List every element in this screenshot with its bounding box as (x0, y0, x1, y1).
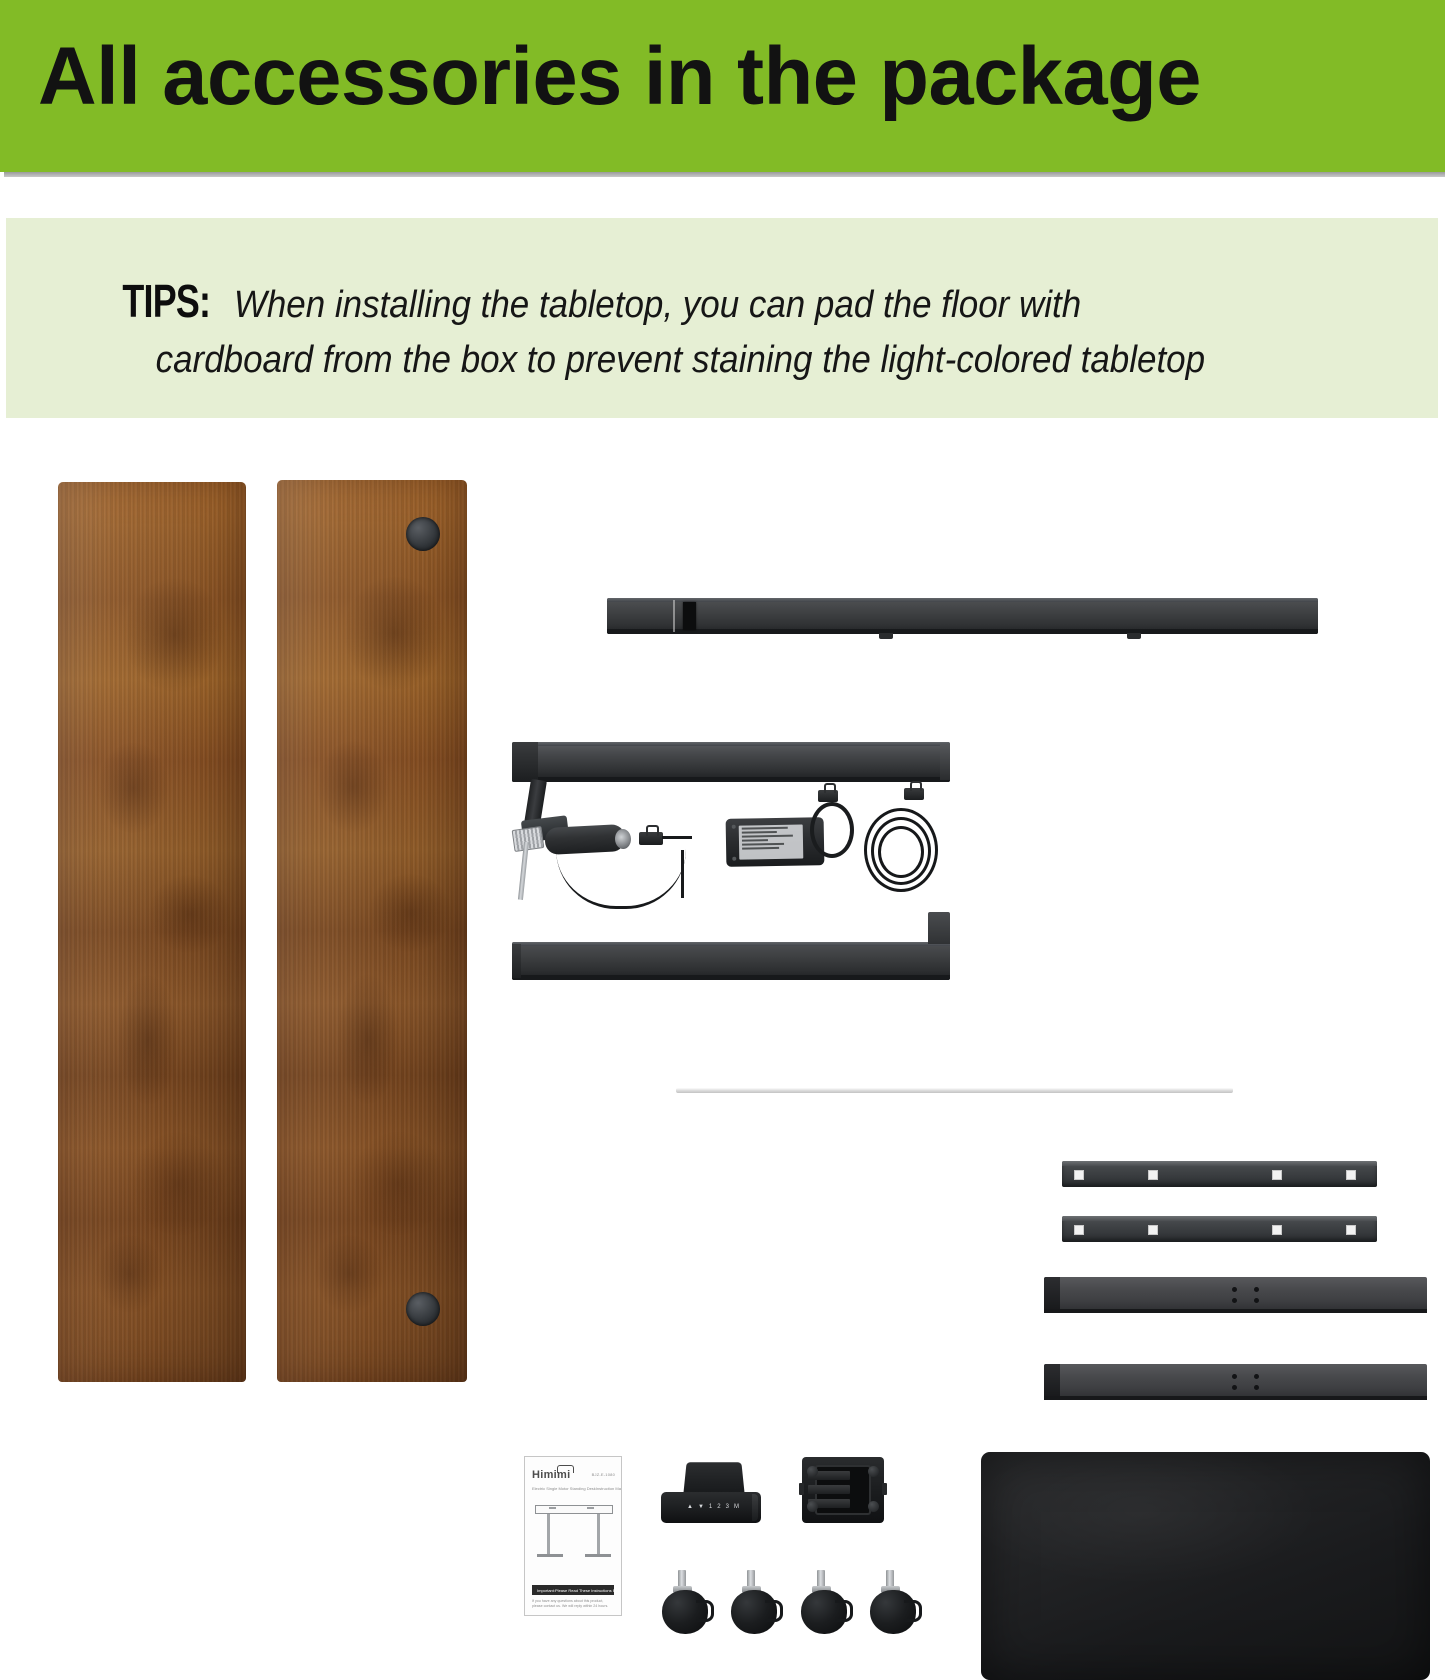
foot-bar-1-bottom-edge (1044, 1309, 1427, 1313)
caster-4 (868, 1570, 922, 1636)
crossbeam-adjust-slot (683, 602, 696, 630)
keypad-key-preset-3[interactable]: 3 (726, 1504, 729, 1510)
mounting-plate-boss-br (868, 1501, 879, 1512)
mounting-plate-boss-tr (868, 1466, 879, 1477)
manual-desk-grommet-1 (549, 1507, 556, 1509)
caster-3-brake-lever (835, 1600, 853, 1622)
mounting-plate-boss-bl (807, 1501, 818, 1512)
caster-3 (799, 1570, 853, 1636)
caster-2 (729, 1570, 783, 1636)
cable-coil-ring-3 (878, 826, 924, 878)
mounting-rail-2-hole-2 (1148, 1225, 1158, 1235)
crossbeam-seam (673, 600, 675, 632)
keypad-key-up[interactable]: ▲ (687, 1504, 693, 1510)
adapter-screw-tl (732, 825, 736, 829)
manual-desk-foot-left (537, 1554, 563, 1557)
foot-bar-2-hole-2 (1254, 1374, 1259, 1379)
mounting-rail-1 (1062, 1161, 1377, 1187)
manual-brand: Himimi (532, 1469, 570, 1481)
mounting-rail-2-hole-1 (1074, 1225, 1084, 1235)
power-adapter-cable-loop (810, 802, 854, 858)
l-beam-upright-tab (928, 912, 950, 944)
crossbeam-top-edge (607, 598, 1318, 602)
mounting-rail-1-lip (1062, 1161, 1377, 1166)
control-keypad-riser (683, 1462, 745, 1495)
cable-grommet-bottom-icon (406, 1292, 440, 1326)
l-beam-bottom-edge (512, 975, 950, 980)
foot-bar-1-end-cap (1044, 1277, 1060, 1313)
motor-beam-face (512, 742, 950, 782)
power-adapter-label (739, 825, 804, 860)
crossbeam-bottom-edge (607, 629, 1318, 634)
tabletop-panel-right (277, 480, 467, 1382)
caster-4-brake-lever (904, 1600, 922, 1622)
foot-bar-1-hole-4 (1254, 1298, 1259, 1303)
accessories-layout: Himimi BJZ-E-1080 Electric Single Motor … (0, 430, 1445, 1383)
manual-footnote: If you have any questions about this pro… (532, 1599, 614, 1609)
motor-cable (556, 844, 686, 909)
motor-beam-right-cap (940, 744, 950, 780)
tips-content: TIPS:When installing the tabletop, you c… (110, 274, 1370, 388)
cable-grommet-top-icon (406, 517, 440, 551)
power-cable-plug-pin (910, 781, 922, 791)
motor-beam-left-cap (512, 742, 538, 782)
motor-support-beam (512, 742, 950, 782)
keypad-key-preset-2[interactable]: 2 (717, 1504, 720, 1510)
mounting-rail-1-hole-4 (1346, 1170, 1356, 1180)
manual-desk-top (535, 1505, 613, 1514)
foot-bar-2-hole-4 (1254, 1385, 1259, 1390)
control-keypad-keys[interactable]: ▲ ▼ 1 2 3 M (687, 1504, 739, 1510)
manual-product-line: Electric Single Motor Standing Desk (532, 1486, 596, 1491)
control-keypad[interactable]: ▲ ▼ 1 2 3 M (661, 1492, 761, 1523)
foot-bar-2 (1044, 1364, 1427, 1400)
caster-2-brake-lever (765, 1600, 783, 1622)
mounting-rail-1-hole-3 (1272, 1170, 1282, 1180)
keypad-key-preset-1[interactable]: 1 (709, 1504, 712, 1510)
mounting-plate-tab-right (882, 1483, 887, 1495)
mounting-rail-1-hole-1 (1074, 1170, 1084, 1180)
manual-desk-diagram (535, 1505, 613, 1567)
l-shaped-support-beam (512, 942, 950, 980)
keypad-key-down[interactable]: ▼ (698, 1504, 704, 1510)
crossbeam-mount-nub-2 (1127, 633, 1141, 639)
mounting-rail-2-lip (1062, 1216, 1377, 1221)
support-rod (676, 1088, 1233, 1093)
foot-bar-1-hole-1 (1232, 1287, 1237, 1292)
tips-label: TIPS: (122, 274, 210, 329)
manual-desk-grommet-2 (587, 1507, 594, 1509)
caster-1 (660, 1570, 714, 1636)
motor-cable-riser (681, 850, 684, 898)
control-keypad-side-edge (752, 1494, 758, 1521)
manual-desk-leg-left (547, 1514, 550, 1554)
power-adapter-plug-pin (824, 783, 836, 793)
keypad-key-memory[interactable]: M (734, 1504, 739, 1510)
foot-bar-1-hole-3 (1232, 1298, 1237, 1303)
manual-warning-bar: Important:Please Read These Instructions… (532, 1585, 614, 1595)
l-beam-end-cap (512, 944, 521, 978)
manual-desk-leg-right (597, 1514, 600, 1554)
l-beam-top-edge (512, 942, 950, 946)
tips-text-line-1: When installing the tabletop, you can pa… (233, 278, 1080, 333)
manual-warning-text: Important:Please Read These Instructions… (537, 1588, 622, 1593)
motor-cable-lead (662, 836, 692, 839)
motor-beam-top-edge (512, 742, 950, 746)
mounting-plate-slot-2 (808, 1485, 850, 1494)
tabletop-panel-left (58, 482, 246, 1382)
motor-beam-bottom-edge (512, 777, 950, 782)
mounting-plate-boss-tl (807, 1466, 818, 1477)
caster-1-brake-lever (696, 1600, 714, 1622)
manual-code: BJZ-E-1080 (592, 1472, 615, 1477)
mounting-rail-2-hole-3 (1272, 1225, 1282, 1235)
foot-bar-2-hole-1 (1232, 1374, 1237, 1379)
manual-subtitle-row: Electric Single Motor Standing Desk Inst… (532, 1486, 615, 1491)
mounting-plate-tab-left (799, 1483, 804, 1495)
mounting-rail-1-hole-2 (1148, 1170, 1158, 1180)
adapter-screw-bl (732, 857, 736, 861)
motor-cable-plug-clip (646, 825, 659, 836)
mounting-rail-2 (1062, 1216, 1377, 1242)
tips-line-1: TIPS:When installing the tabletop, you c… (110, 274, 1370, 333)
tips-text-line-2: cardboard from the box to prevent staini… (156, 333, 1205, 388)
foot-bar-2-bottom-edge (1044, 1396, 1427, 1400)
foot-bar-1 (1044, 1277, 1427, 1313)
manual-desk-foot-right (585, 1554, 611, 1557)
crossbeam-mount-nub-1 (879, 633, 893, 639)
telescoping-crossbeam (607, 598, 1318, 634)
desk-mat (981, 1452, 1430, 1680)
foot-bar-1-hole-2 (1254, 1287, 1259, 1292)
mounting-rail-2-hole-4 (1346, 1225, 1356, 1235)
header-banner: All accessories in the package (0, 0, 1445, 172)
manual-doc-type: Instruction Manual (596, 1486, 622, 1491)
tips-panel: TIPS:When installing the tabletop, you c… (6, 218, 1438, 418)
tips-line-2: cardboard from the box to prevent staini… (110, 333, 1370, 388)
power-cable-coil (864, 800, 938, 890)
keypad-mounting-plate (802, 1457, 884, 1523)
instruction-manual: Himimi BJZ-E-1080 Electric Single Motor … (524, 1456, 622, 1616)
foot-bar-2-hole-3 (1232, 1385, 1237, 1390)
foot-bar-2-end-cap (1044, 1364, 1060, 1400)
page-title: All accessories in the package (38, 22, 1414, 132)
